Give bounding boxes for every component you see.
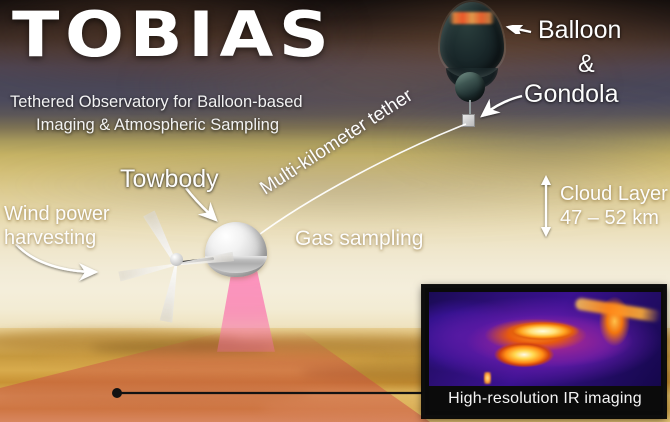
page-title: TOBIAS xyxy=(12,4,335,66)
tobias-concept-figure: High-resolution IR imaging TOBIAS Tether… xyxy=(0,0,670,422)
turbine-hub xyxy=(170,253,183,266)
ir-hotspot-speck xyxy=(484,372,491,384)
gondola-instrument-box xyxy=(462,114,475,127)
label-wind-power-harvesting: Wind power harvesting xyxy=(4,202,134,250)
label-ampersand: & xyxy=(578,52,595,77)
page-subtitle: Tethered Observatory for Balloon-based I… xyxy=(10,91,360,137)
label-gondola: Gondola xyxy=(524,82,619,107)
ir-thermal-image xyxy=(429,292,661,390)
subtitle-line-1: Tethered Observatory for Balloon-based xyxy=(10,93,303,111)
label-cloud-layer: Cloud Layer 47 – 52 km xyxy=(560,182,670,230)
ir-inset-caption: High-resolution IR imaging xyxy=(429,386,661,411)
label-gas-sampling: Gas sampling xyxy=(295,226,423,251)
gondola-sphere xyxy=(455,72,485,102)
balloon-hot-band xyxy=(449,12,495,24)
label-balloon: Balloon xyxy=(538,18,621,43)
label-towbody: Towbody xyxy=(120,167,219,192)
ir-lava-streak xyxy=(575,297,661,322)
ir-imaging-inset: High-resolution IR imaging xyxy=(422,285,666,418)
subtitle-line-2: Imaging & Atmospheric Sampling xyxy=(10,114,360,137)
